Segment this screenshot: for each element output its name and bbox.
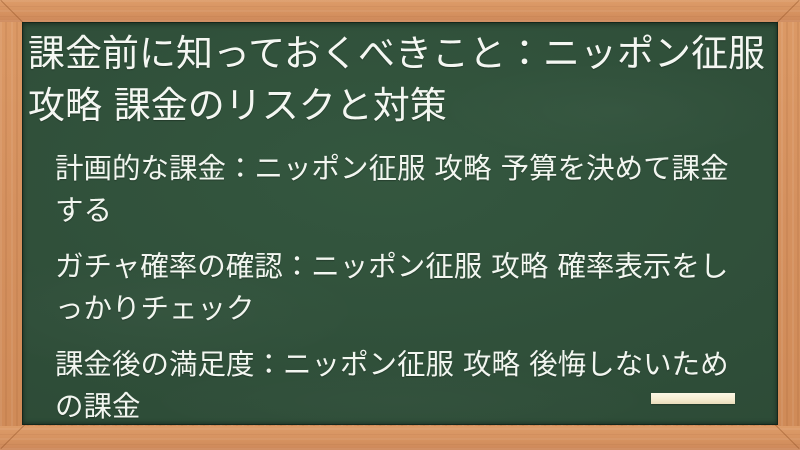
chalkboard-surface: 課金前に知っておくべきこと：ニッポン征服 攻略 課金のリスクと対策 計画的な課金… [22, 22, 778, 425]
list-item: ガチャ確率の確認：ニッポン征服 攻略 確率表示をしっかりチェック [55, 246, 755, 330]
chalkboard-slide: 課金前に知っておくべきこと：ニッポン征服 攻略 課金のリスクと対策 計画的な課金… [0, 0, 800, 450]
list-item: 計画的な課金：ニッポン征服 攻略 予算を決めて課金する [55, 148, 755, 232]
chalk-eraser-icon [651, 393, 735, 404]
chalkboard-content: 課金前に知っておくべきこと：ニッポン征服 攻略 課金のリスクと対策 計画的な課金… [22, 22, 778, 425]
frame-rail-bottom [0, 426, 800, 450]
slide-title: 課金前に知っておくべきこと：ニッポン征服 攻略 課金のリスクと対策 [28, 28, 768, 132]
slide-bullet-list: 計画的な課金：ニッポン征服 攻略 予算を決めて課金する ガチャ確率の確認：ニッポ… [55, 148, 755, 425]
frame-rail-top [0, 0, 800, 22]
list-item: 課金後の満足度：ニッポン征服 攻略 後悔しないための課金 [55, 344, 755, 425]
